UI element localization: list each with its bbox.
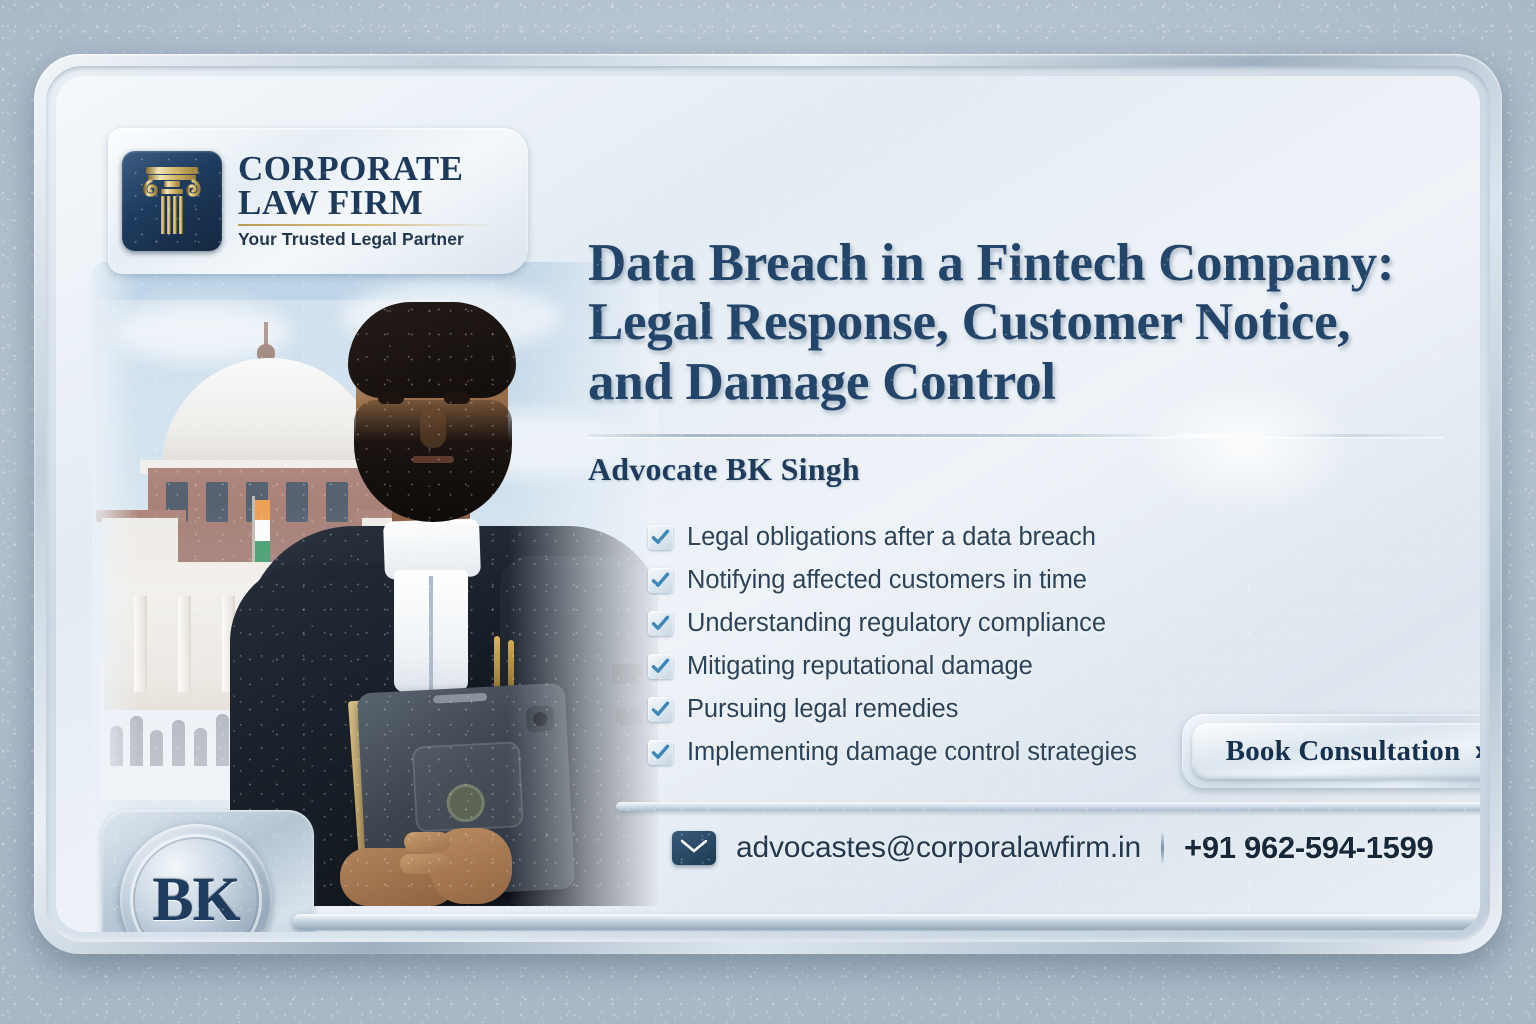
advocate-hand-right <box>430 828 512 904</box>
brand-text: CORPORATE LAW FIRM Your Trusted Legal Pa… <box>238 152 496 250</box>
headline-divider <box>588 434 1444 437</box>
brand-tagline: Your Trusted Legal Partner <box>238 229 496 250</box>
contact-separator <box>1161 833 1164 863</box>
checkbox-checked-icon <box>648 568 673 593</box>
mouth <box>412 456 454 463</box>
bk-medallion: BK <box>120 824 272 932</box>
eye <box>378 392 404 404</box>
list-item-label: Mitigating reputational damage <box>687 652 1033 681</box>
contact-bar: advocastes@corporalawfirm.in +91 962-594… <box>672 830 1433 866</box>
advocate-hair <box>348 302 516 398</box>
finger <box>400 854 450 874</box>
checkbox-checked-icon <box>648 654 673 679</box>
headline-line-1: Data Breach in a Fintech Company: <box>588 234 1480 293</box>
list-item-label: Understanding regulatory compliance <box>687 609 1106 638</box>
frame-inner-bevel: Data Breach in a Fintech Company: Legal … <box>46 66 1490 942</box>
eye <box>444 392 470 404</box>
eyebrow <box>440 378 474 386</box>
book-consultation-label: Book Consultation <box>1226 735 1461 768</box>
list-item-label: Legal obligations after a data breach <box>687 523 1096 552</box>
list-item: Pursuing legal remedies <box>648 688 1248 730</box>
envelope-icon <box>672 831 716 865</box>
benefits-list: Legal obligations after a data breach No… <box>648 516 1248 774</box>
contact-phone[interactable]: +91 962-594-1599 <box>1184 830 1433 866</box>
checkbox-checked-icon <box>648 740 673 765</box>
tablet-top-bar <box>433 693 487 704</box>
monogram-text: BK <box>152 865 240 933</box>
contact-email[interactable]: advocastes@corporalawfirm.in <box>736 831 1141 865</box>
nose <box>420 408 446 448</box>
list-item: Mitigating reputational damage <box>648 645 1248 687</box>
outer-metal-frame: Data Breach in a Fintech Company: Legal … <box>34 54 1502 954</box>
content-panel: Data Breach in a Fintech Company: Legal … <box>56 76 1480 932</box>
chevron-right-icon: › <box>1474 736 1480 766</box>
list-item: Legal obligations after a data breach <box>648 516 1248 558</box>
brand-name-line-1: CORPORATE <box>238 152 496 186</box>
checkbox-checked-icon <box>648 697 673 722</box>
bottom-metal-bar <box>292 914 1480 930</box>
advocate-bands <box>394 570 468 692</box>
page-title: Data Breach in a Fintech Company: Legal … <box>588 234 1480 412</box>
brand-name-line-2: LAW FIRM <box>238 186 496 220</box>
brand-logo-plate: CORPORATE LAW FIRM Your Trusted Legal Pa… <box>108 128 528 274</box>
brand-rule <box>238 224 496 226</box>
medallion-plate: BK <box>102 810 314 932</box>
list-item-label: Notifying affected customers in time <box>687 566 1087 595</box>
finger <box>404 832 450 852</box>
headline-line-2: Legal Response, Customer Notice, <box>588 293 1480 352</box>
list-item-label: Implementing damage control strategies <box>687 738 1137 767</box>
eyebrow <box>374 378 408 386</box>
cta-tray: Book Consultation › <box>1182 714 1480 788</box>
checkbox-checked-icon <box>648 611 673 636</box>
book-consultation-button[interactable]: Book Consultation › <box>1192 723 1480 779</box>
contact-divider-bar <box>616 802 1480 811</box>
checkbox-checked-icon <box>648 525 673 550</box>
ionic-column-icon <box>122 151 222 251</box>
list-item: Implementing damage control strategies <box>648 731 1248 773</box>
list-item-label: Pursuing legal remedies <box>687 695 958 724</box>
headline-line-3: and Damage Control <box>588 353 1480 412</box>
list-item: Notifying affected customers in time <box>648 559 1248 601</box>
list-item: Understanding regulatory compliance <box>648 602 1248 644</box>
advocate-name: Advocate BK Singh <box>588 451 860 488</box>
